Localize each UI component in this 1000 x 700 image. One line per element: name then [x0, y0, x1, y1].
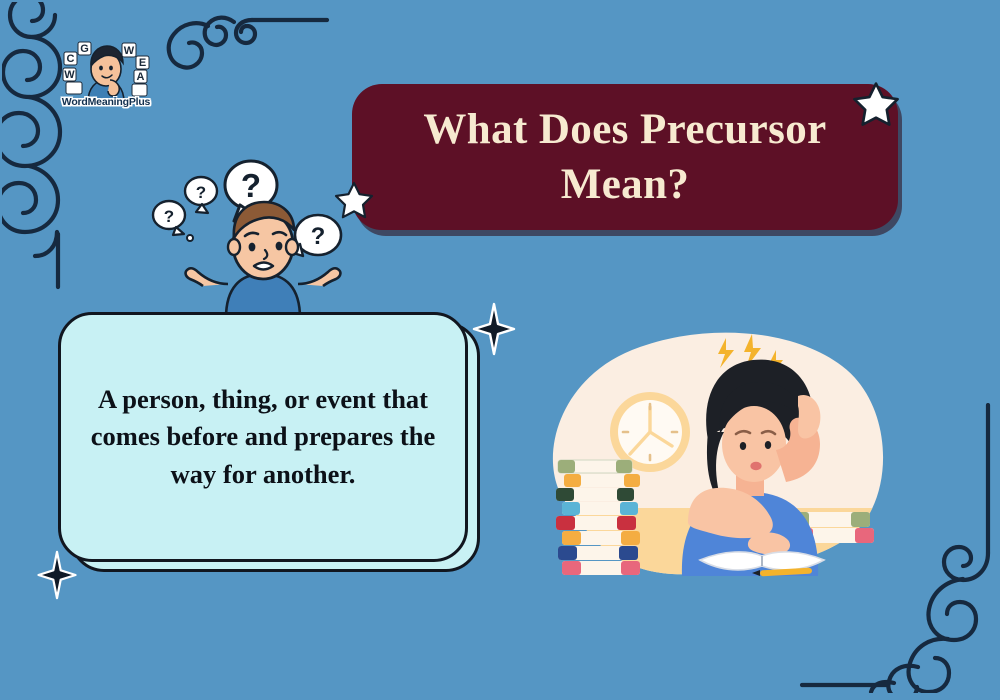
svg-text:E: E	[139, 57, 146, 69]
definition-text: A person, thing, or event that comes bef…	[61, 381, 465, 494]
book-stack-left	[556, 460, 640, 575]
title-banner: What Does Precursor Mean?	[352, 84, 898, 230]
brand-logo-text: WordMeaningPlus	[62, 96, 150, 108]
svg-text:G: G	[80, 43, 89, 55]
definition-card: A person, thing, or event that comes bef…	[58, 312, 488, 578]
svg-text:?: ?	[196, 183, 206, 202]
svg-text:A: A	[137, 71, 145, 83]
thought-bubble-small: ?	[153, 201, 193, 241]
stressed-student-illustration	[512, 322, 894, 578]
logo-thinking-man-icon: C G W W E A	[58, 38, 154, 102]
sparkle-bottom-left-icon	[36, 550, 78, 605]
title-banner-body: What Does Precursor Mean?	[352, 84, 898, 230]
svg-text:W: W	[64, 69, 75, 81]
brand-logo[interactable]: C G W W E A	[58, 38, 154, 116]
svg-text:?: ?	[241, 167, 261, 204]
page-title: What Does Precursor Mean?	[352, 102, 898, 212]
svg-text:?: ?	[164, 207, 174, 226]
svg-text:C: C	[67, 53, 75, 65]
svg-text:?: ?	[311, 223, 326, 250]
svg-text:W: W	[124, 45, 135, 57]
thought-bubble-medium: ?	[185, 177, 217, 213]
infographic-canvas: C G W W E A	[0, 0, 1000, 700]
confused-man-illustration: ? ? ? ?	[148, 150, 378, 318]
definition-card-body: A person, thing, or event that comes bef…	[58, 312, 468, 562]
